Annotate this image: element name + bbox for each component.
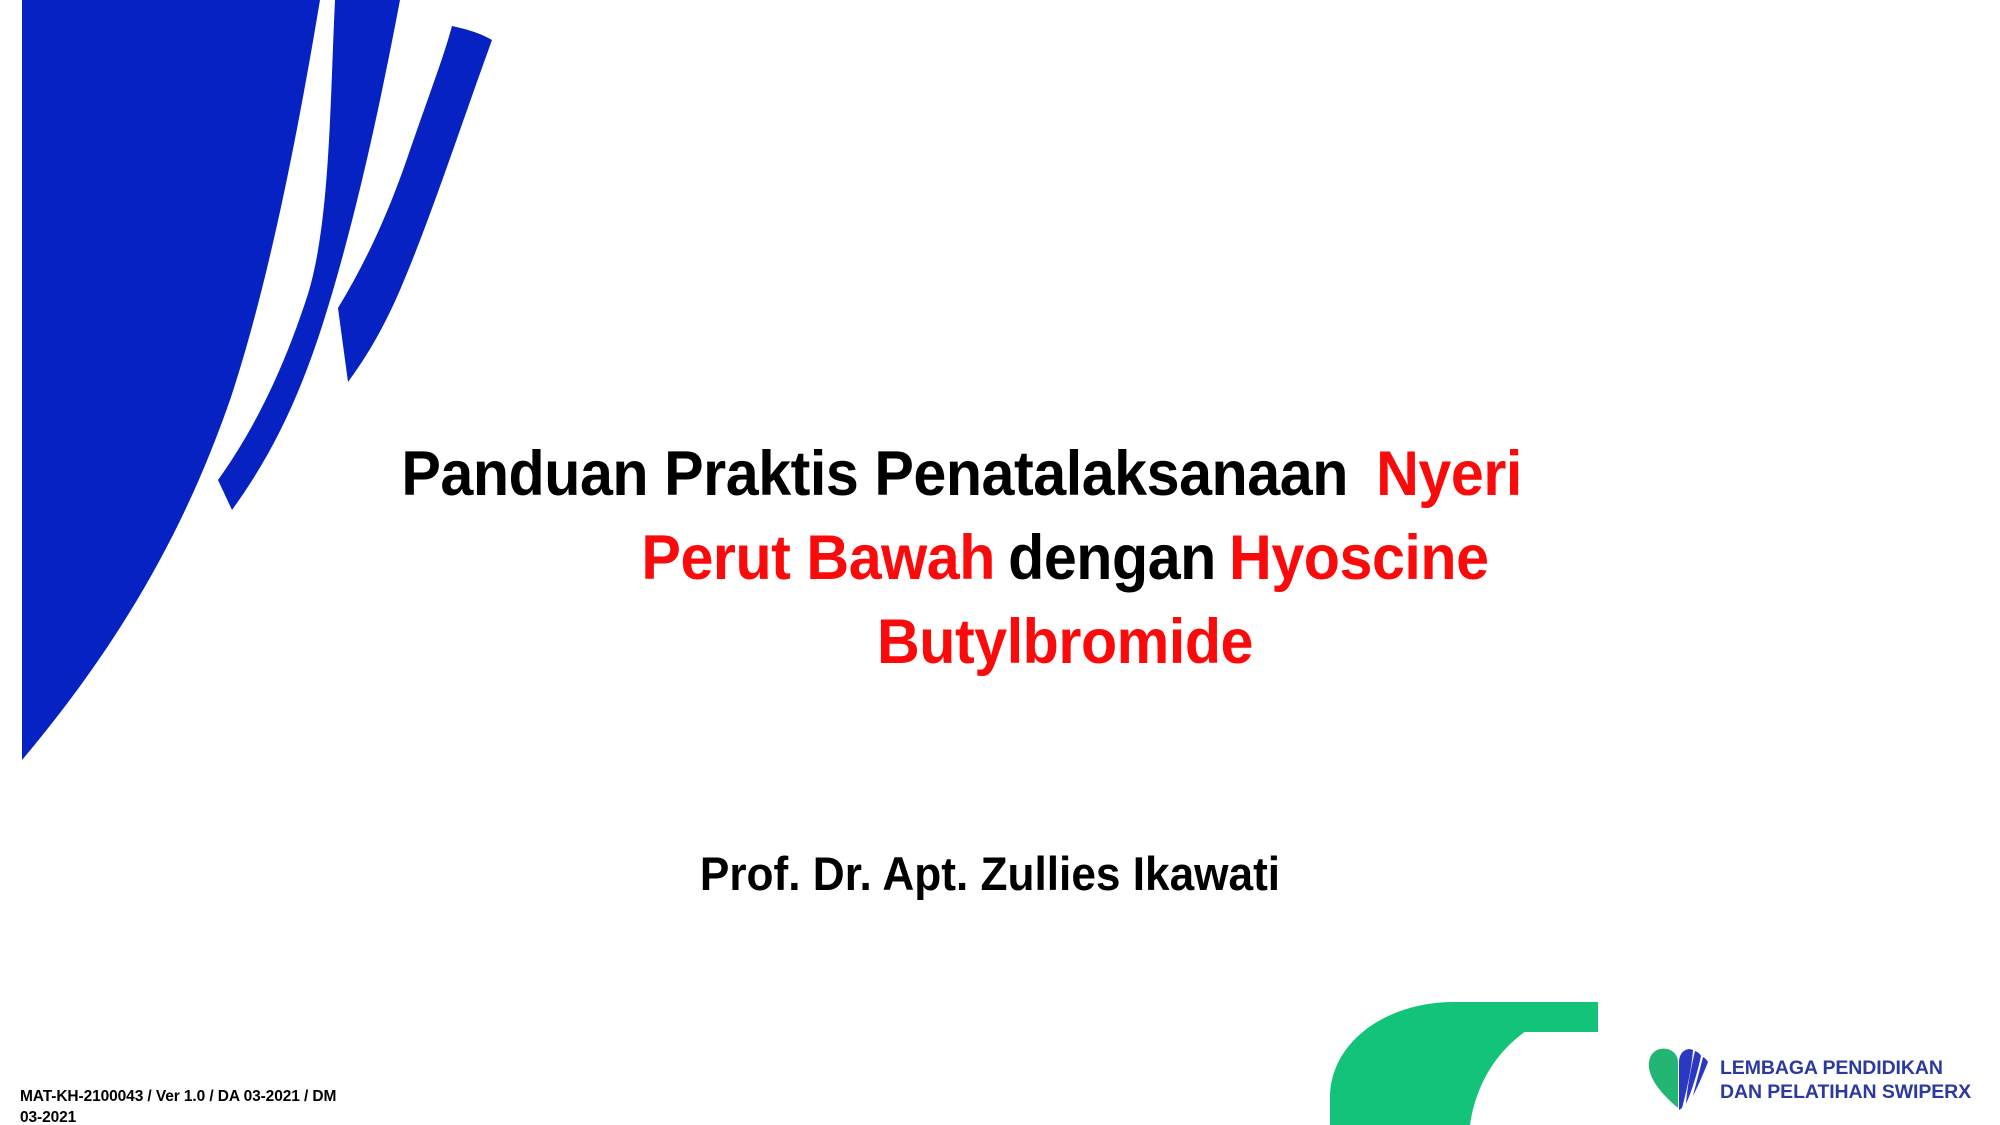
title-line3-part1: Butylbromide xyxy=(877,607,1253,677)
title-line2-part1: Perut Bawah xyxy=(641,523,995,593)
footer-material-code: MAT-KH-2100043 / Ver 1.0 / DA 03-2021 / … xyxy=(20,1086,450,1125)
title-line-2: Perut BawahdenganHyoscine xyxy=(398,516,1733,600)
footer-code-line1: MAT-KH-2100043 / Ver 1.0 / DA 03-2021 / … xyxy=(20,1086,450,1107)
swoosh-stroke-3 xyxy=(338,26,492,382)
title-line2-part3: Hyoscine xyxy=(1229,523,1489,593)
green-arc-fill xyxy=(1330,1002,1598,1125)
green-arc-outline xyxy=(1330,1002,1598,1125)
title-line-1: Panduan Praktis PenatalaksanaanNyeri xyxy=(398,432,1733,516)
heart-left-half xyxy=(1649,1049,1678,1108)
logo-wordmark: LEMBAGA PENDIDIKAN DAN PELATIHAN SWIPERX xyxy=(1720,1056,1971,1104)
presentation-slide: Panduan Praktis PenatalaksanaanNyeri Per… xyxy=(0,0,2000,1125)
logo-text-line1: LEMBAGA PENDIDIKAN xyxy=(1720,1056,1971,1080)
heart-book-icon xyxy=(1648,1046,1710,1114)
logo-text-line2: DAN PELATIHAN SWIPERX xyxy=(1720,1080,1971,1104)
footer-code-line2: 03-2021 xyxy=(20,1107,450,1125)
slide-title: Panduan Praktis PenatalaksanaanNyeri Per… xyxy=(355,432,1775,684)
swiperx-logo-lockup: LEMBAGA PENDIDIKAN DAN PELATIHAN SWIPERX xyxy=(1648,1042,1988,1118)
title-line1-part2: Nyeri xyxy=(1376,439,1522,509)
swoosh-body-shape xyxy=(22,0,320,760)
presenter-name: Prof. Dr. Apt. Zullies Ikawati xyxy=(393,844,1587,904)
title-line2-part2: dengan xyxy=(1008,523,1216,593)
title-line1-part1: Panduan Praktis Penatalaksanaan xyxy=(401,439,1348,509)
title-line-3: Butylbromide xyxy=(398,600,1733,684)
